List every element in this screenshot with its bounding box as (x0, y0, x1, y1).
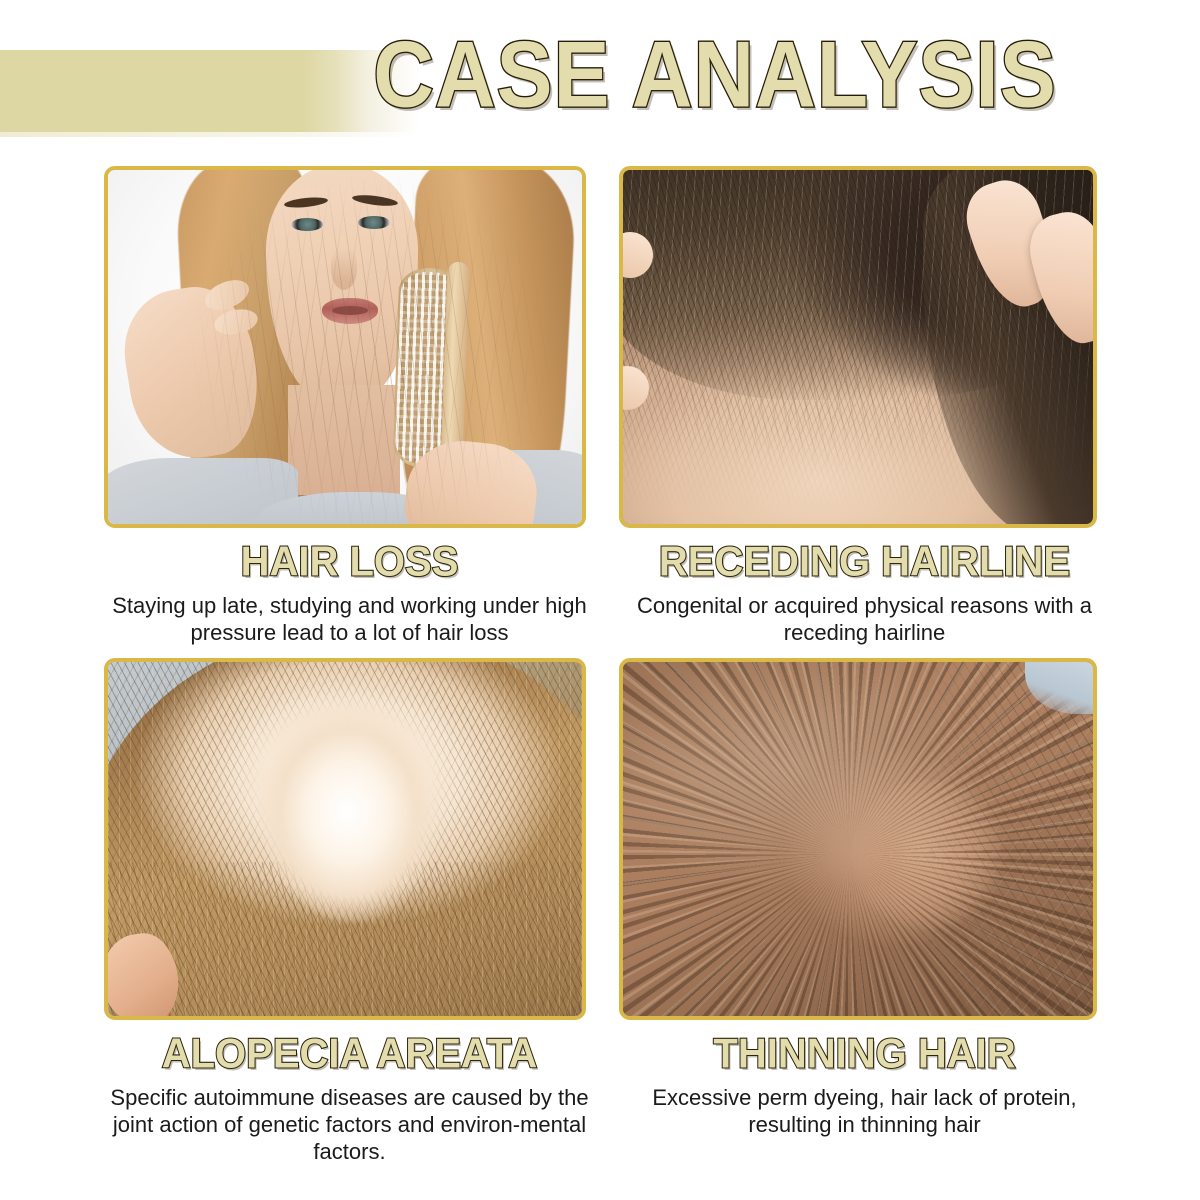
header: CASE ANALYSIS (0, 0, 1200, 150)
photo-receding-hairline (623, 170, 1093, 524)
photo-frame-hair-loss (104, 166, 586, 528)
page-title: CASE ANALYSIS (365, 18, 1065, 130)
card-caption-hair-loss: Staying up late, studying and working un… (104, 592, 595, 646)
header-accent-band (0, 50, 420, 133)
card-caption-receding-hairline: Congenital or acquired physical reasons … (619, 592, 1110, 646)
card-label-hair-loss: HAIR LOSS (104, 539, 595, 585)
case-card-alopecia-areata: ALOPECIA AREATA Specific autoimmune dise… (104, 658, 595, 1165)
card-caption-alopecia-areata: Specific autoimmune diseases are caused … (104, 1084, 595, 1165)
photo-hair-loss (108, 170, 582, 524)
photo-frame-receding-hairline (619, 166, 1097, 528)
case-card-hair-loss: HAIR LOSS Staying up late, studying and … (104, 166, 595, 646)
card-label-thinning-hair: THINNING HAIR (619, 1031, 1110, 1077)
photo-alopecia-areata (108, 662, 582, 1016)
case-analysis-infographic: CASE ANALYSIS (0, 0, 1200, 1200)
case-card-grid: HAIR LOSS Staying up late, studying and … (0, 150, 1200, 1200)
card-label-receding-hairline: RECEDING HAIRLINE (619, 539, 1110, 585)
card-caption-thinning-hair: Excessive perm dyeing, hair lack of prot… (619, 1084, 1110, 1138)
card-label-alopecia-areata: ALOPECIA AREATA (104, 1031, 595, 1077)
case-card-receding-hairline: RECEDING HAIRLINE Congenital or acquired… (619, 166, 1110, 646)
photo-frame-thinning-hair (619, 658, 1097, 1020)
photo-thinning-hair (623, 662, 1093, 1016)
photo-frame-alopecia-areata (104, 658, 586, 1020)
case-card-thinning-hair: THINNING HAIR Excessive perm dyeing, hai… (619, 658, 1110, 1138)
